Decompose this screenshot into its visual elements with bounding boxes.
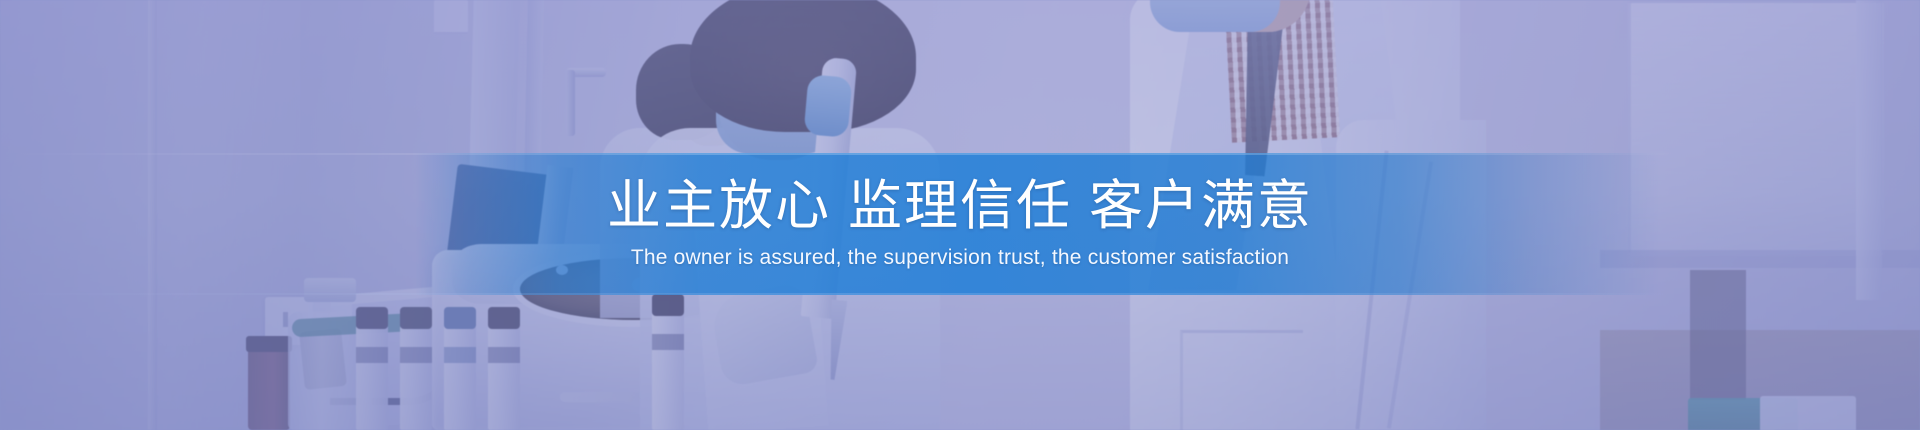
banner-subheadline: The owner is assured, the supervision tr… xyxy=(631,245,1289,270)
banner-headline: 业主放心 监理信任 客户满意 xyxy=(607,178,1313,235)
banner-copy: 业主放心 监理信任 客户满意 The owner is assured, the… xyxy=(0,153,1920,295)
hero-banner: 业主放心 监理信任 客户满意 The owner is assured, the… xyxy=(0,0,1920,430)
